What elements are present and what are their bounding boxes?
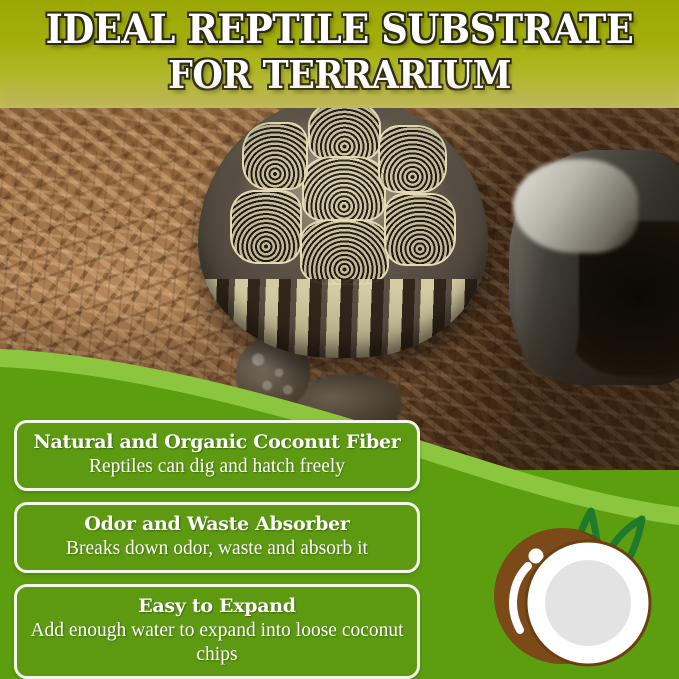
headline-line-1: IDEAL REPTILE SUBSTRATE (27, 7, 652, 52)
feature-box-natural-organic-coconut-fiber: Natural and Organic Coconut Fiber Reptil… (14, 420, 420, 491)
product-feature-poster: IDEAL REPTILE SUBSTRATE FOR TERRARIUM Na… (0, 0, 679, 679)
feature-box-odor-and-waste-absorber: Odor and Waste Absorber Breaks down odor… (14, 502, 420, 573)
feature-list: Natural and Organic Coconut Fiber Reptil… (14, 420, 420, 679)
feature-description: Reptiles can dig and hatch freely (27, 455, 407, 479)
coconut-icon (460, 478, 679, 679)
page-title: IDEAL REPTILE SUBSTRATE FOR TERRARIUM (27, 7, 652, 97)
feature-box-easy-to-expand: Easy to Expand Add enough water to expan… (14, 584, 420, 679)
feature-description: Add enough water to expand into loose co… (27, 619, 407, 667)
feature-title: Odor and Waste Absorber (27, 513, 407, 536)
header-band: IDEAL REPTILE SUBSTRATE FOR TERRARIUM (0, 0, 679, 108)
feature-description: Breaks down odor, waste and absorb it (27, 537, 407, 561)
feature-title: Natural and Organic Coconut Fiber (27, 431, 407, 454)
feature-title: Easy to Expand (27, 595, 407, 618)
coconut-center (545, 560, 631, 646)
headline-line-2: FOR TERRARIUM (27, 52, 652, 97)
rock-hide-highlight (513, 159, 638, 253)
